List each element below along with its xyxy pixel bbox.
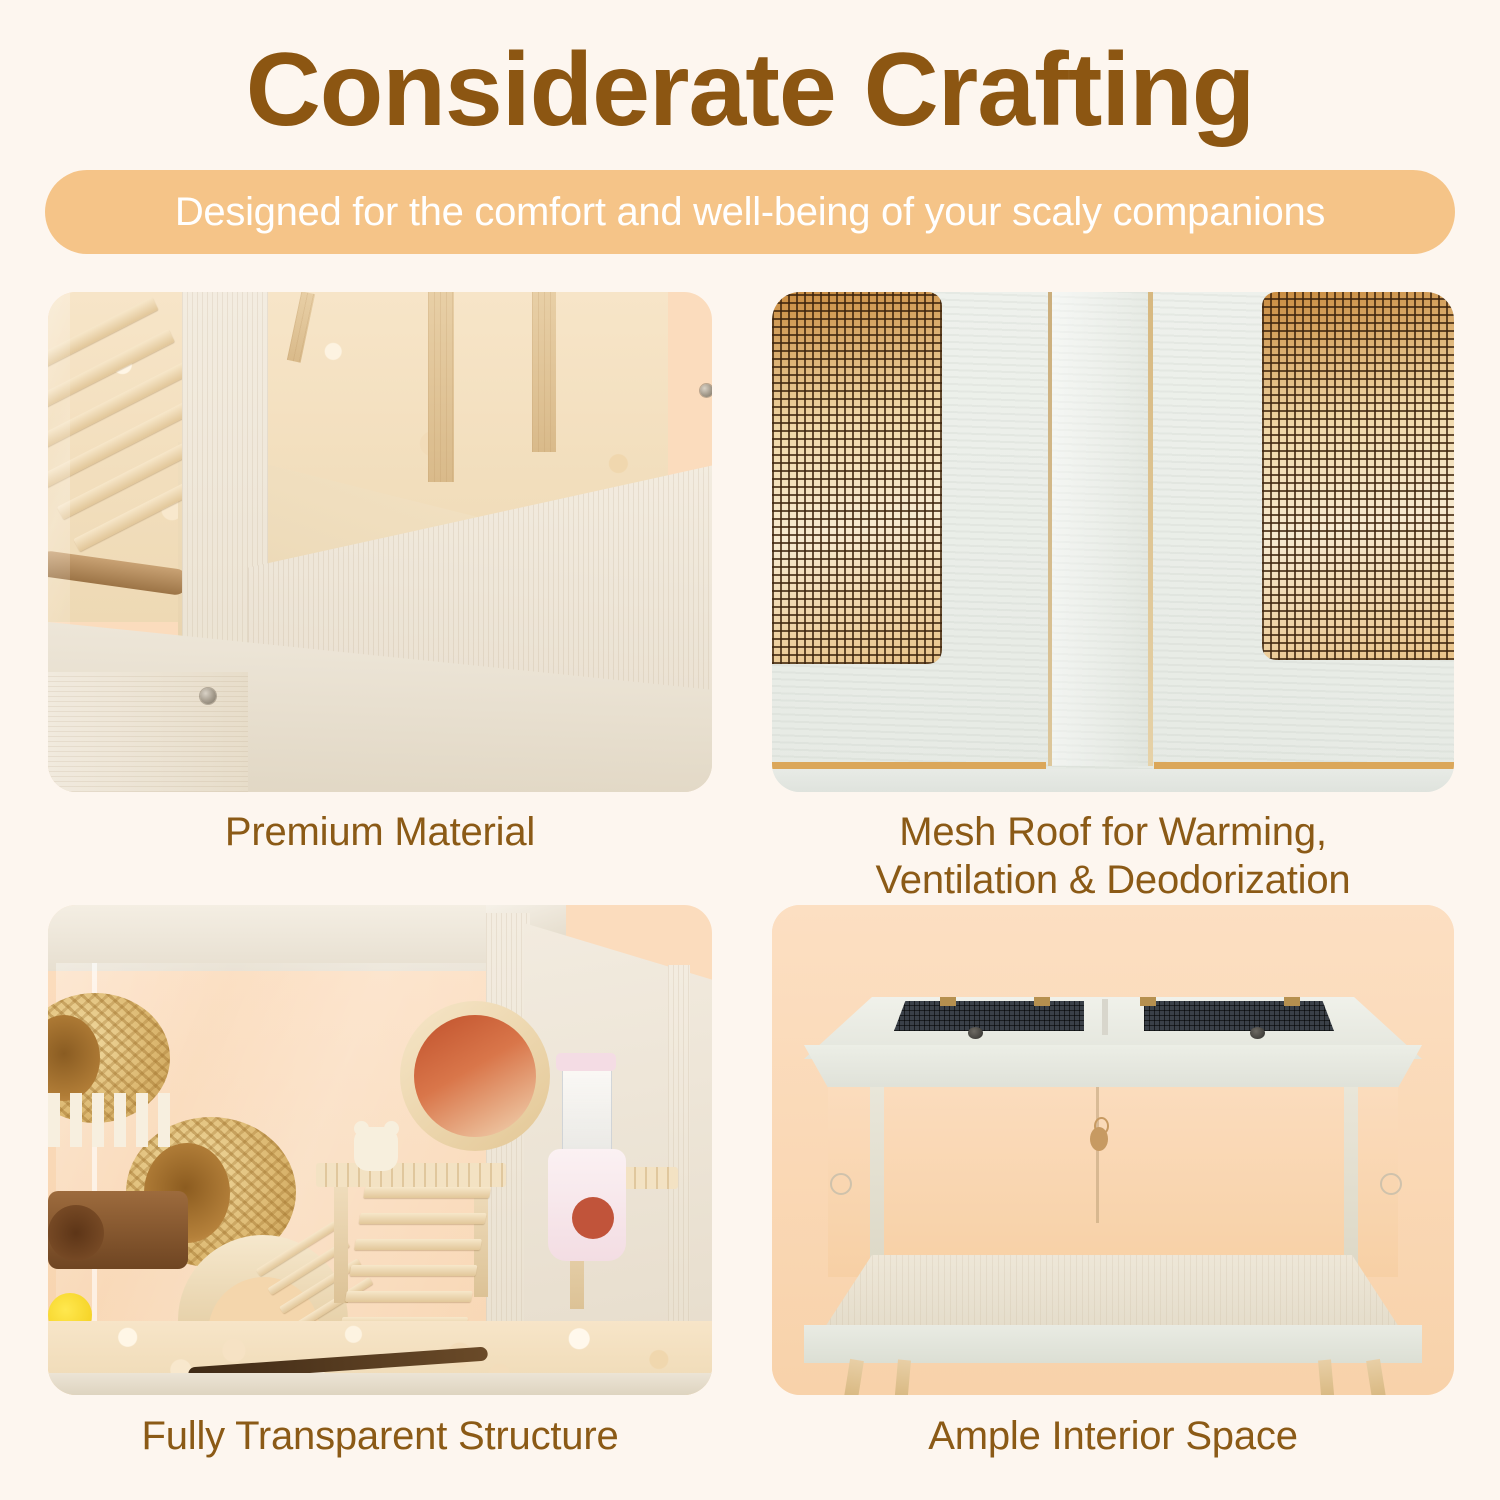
mesh-screen-left xyxy=(772,292,942,664)
subtitle-banner: Designed for the comfort and well-being … xyxy=(45,170,1455,254)
roof-trim-left xyxy=(772,762,1046,769)
screw-lower-left xyxy=(200,688,216,704)
roof-hinge-4 xyxy=(1284,997,1300,1006)
screw-upper-right xyxy=(700,384,712,397)
roof-mesh-panel-left xyxy=(894,1001,1084,1031)
roof-seam-right xyxy=(1148,292,1153,766)
mesh-roof-illustration xyxy=(772,292,1454,792)
caption-ample-interior-space: Ample Interior Space xyxy=(772,1412,1454,1460)
roof-center-seam xyxy=(1102,999,1108,1035)
cage-far-post xyxy=(668,965,690,1345)
caption-line: Mesh Roof for Warming, xyxy=(772,808,1454,856)
platform-leg-left xyxy=(334,1187,348,1303)
left-base-edge xyxy=(48,672,248,792)
subtitle-text: Designed for the comfort and well-being … xyxy=(175,190,1325,234)
premium-material-illustration xyxy=(48,292,712,792)
transparent-structure-illustration xyxy=(48,905,712,1395)
caption-line: Ventilation & Deodorization xyxy=(772,856,1454,904)
cage-open-interior xyxy=(828,1087,1398,1277)
cage-bottom-rail xyxy=(804,1325,1422,1363)
interior-divider-line xyxy=(1096,1087,1099,1223)
water-bottle-tube xyxy=(562,1065,612,1159)
water-bottle-label xyxy=(572,1197,614,1239)
door-latch-ring xyxy=(1094,1117,1109,1135)
cage-base-rail xyxy=(48,1373,712,1395)
roof-hinge-2 xyxy=(1034,997,1050,1006)
ample-interior-illustration xyxy=(772,905,1454,1395)
roof-hinge-1 xyxy=(940,997,956,1006)
side-vent-right xyxy=(1380,1173,1402,1195)
roof-front-edge xyxy=(772,769,1454,792)
mesh-screen-right xyxy=(1262,292,1454,660)
side-vent-left xyxy=(830,1173,852,1195)
caption-premium-material: Premium Material xyxy=(48,808,712,856)
roof-knob-right xyxy=(1250,1027,1265,1039)
bear-ear-right xyxy=(384,1121,399,1136)
wood-post-center xyxy=(428,292,454,482)
page-title: Considerate Crafting xyxy=(0,34,1500,146)
feature-image-transparent-structure xyxy=(48,905,712,1395)
exercise-wheel-inner xyxy=(414,1015,536,1137)
feature-image-mesh-roof xyxy=(772,292,1454,792)
platform-deck xyxy=(316,1163,506,1187)
cage-top-band xyxy=(804,1045,1422,1089)
roof-trim-right xyxy=(1154,762,1454,769)
log-tunnel-opening xyxy=(48,1205,104,1261)
caption-line: Premium Material xyxy=(48,808,712,856)
caption-line: Fully Transparent Structure xyxy=(48,1412,712,1460)
wood-post-right xyxy=(532,292,556,452)
caption-line: Ample Interior Space xyxy=(772,1412,1454,1460)
interior-post-right xyxy=(1344,1087,1358,1273)
caption-mesh-roof: Mesh Roof for Warming, Ventilation & Deo… xyxy=(772,808,1454,904)
bear-ear-left xyxy=(354,1121,369,1136)
cage-top-rail xyxy=(48,905,518,971)
feature-image-premium-material xyxy=(48,292,712,792)
roof-hinge-3 xyxy=(1140,997,1156,1006)
water-bottle-cap xyxy=(556,1053,616,1071)
picket-fence xyxy=(48,1093,178,1147)
roof-center-panel xyxy=(1052,292,1148,766)
interior-post-left xyxy=(870,1087,884,1275)
feature-image-ample-interior-space xyxy=(772,905,1454,1395)
roof-knob-left xyxy=(968,1027,983,1039)
caption-transparent-structure: Fully Transparent Structure xyxy=(48,1412,712,1460)
roof-mesh-panel-right xyxy=(1144,1001,1334,1031)
